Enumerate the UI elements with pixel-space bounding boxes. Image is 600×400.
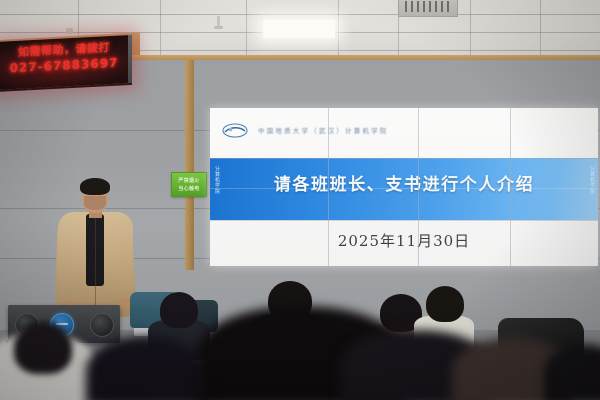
sprinkler-icon xyxy=(217,16,220,28)
led-sign: 如需帮助，请拨打 027-67883697 xyxy=(0,35,132,92)
foreground-head xyxy=(86,336,206,400)
safety-sign-line-1: 严禁烟火 xyxy=(178,177,199,185)
speaker-hair xyxy=(80,178,110,195)
speaker-jacket-zipper xyxy=(95,214,96,314)
air-conditioner-vent xyxy=(398,0,458,17)
ceiling-light-panel xyxy=(263,20,335,38)
safety-sign: 严禁烟火 当心触电 xyxy=(171,172,207,197)
led-sign-frame xyxy=(128,35,132,83)
attendee-head xyxy=(426,286,464,322)
university-logo-icon xyxy=(222,122,248,139)
projection-screen: 中国地质大学（武汉）计算机学院 计算机学院 计算机学院 请各班班长、支书进行个人… xyxy=(210,108,598,266)
smoke-detector-icon xyxy=(66,28,73,34)
slide-organization-name: 中国地质大学（武汉）计算机学院 xyxy=(258,125,389,135)
foreground-head xyxy=(14,322,72,374)
slide-header: 中国地质大学（武汉）计算机学院 xyxy=(210,108,598,156)
slide-title-band: 计算机学院 计算机学院 请各班班长、支书进行个人介绍 xyxy=(210,158,598,220)
slide-title: 请各班班长、支书进行个人介绍 xyxy=(210,170,598,195)
attendee-head xyxy=(160,292,198,328)
wall-pillar xyxy=(185,60,194,270)
podium-speaker-right-icon xyxy=(90,313,114,337)
slide-date: 2025年11月30日 xyxy=(210,230,598,251)
speaker-face-shadow xyxy=(84,196,106,210)
lecture-hall-photo: 如需帮助，请拨打 027-67883697 严禁烟火 当心触电 中国地质大学（武… xyxy=(0,0,600,400)
safety-sign-line-2: 当心触电 xyxy=(178,185,199,193)
